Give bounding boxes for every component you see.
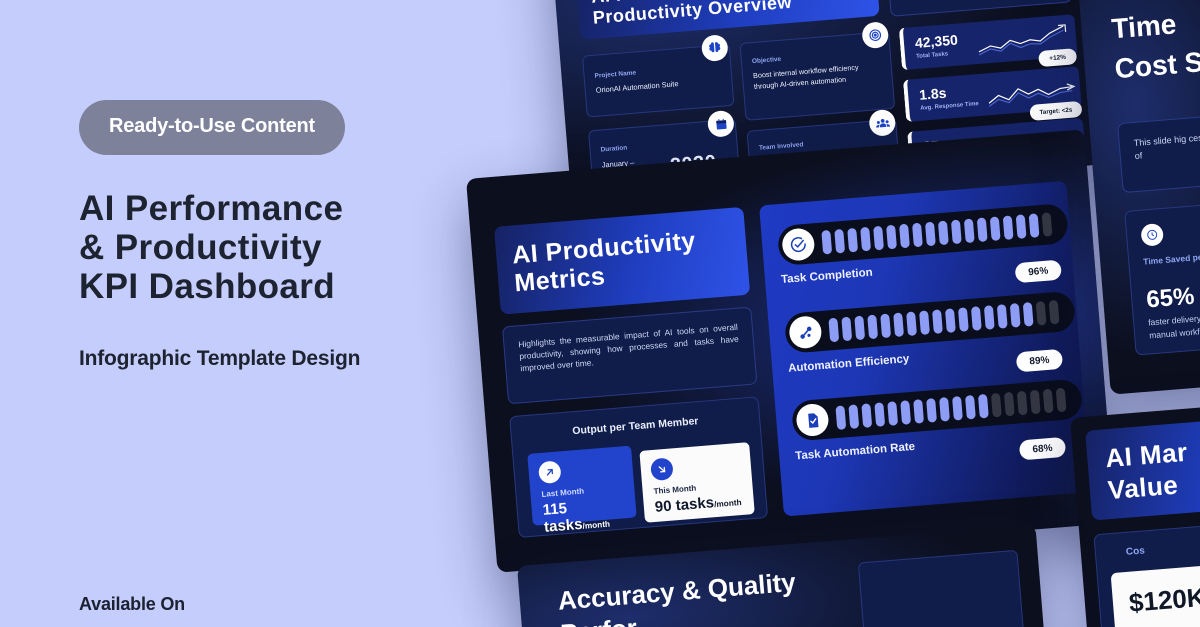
page-title-line-3: KPI Dashboard — [79, 267, 343, 306]
arrow-down-right-icon — [650, 457, 674, 481]
stat-total-tasks-value: 42,350 — [914, 32, 958, 51]
slide-time-cost-title-line-1: Time — [1110, 2, 1200, 49]
slide-time-cost-title-line-2: Cost S — [1113, 42, 1200, 89]
output-card-last-month-label: Last Month — [541, 487, 584, 499]
card-objective-label: Objective — [752, 56, 782, 65]
card-duration-label: Duration — [600, 144, 627, 153]
stat-response-time-caption: Avg. Response Time — [920, 101, 979, 112]
page-title-line-1: AI Performance — [79, 189, 343, 228]
card-cost-savings-value: $120K — [1128, 582, 1200, 619]
output-card-this-month-unit: /month — [714, 498, 742, 509]
slide-metrics-description: Highlights the measurable impact of AI t… — [502, 307, 757, 405]
slide-ai-value-header: AI Mar Value — [1085, 412, 1200, 520]
page-title-line-2: & Productivity — [79, 228, 343, 267]
page-subtitle: Infographic Template Design — [79, 347, 360, 371]
stat-total-tasks-pill: +12% — [1038, 48, 1077, 67]
slide-overview-title-line-2: Productivity Overview — [592, 0, 793, 29]
card-project-name-value: OrionAI Automation Suite — [595, 79, 678, 95]
slide-ai-value-title-line-2: Value — [1107, 468, 1192, 507]
output-card-last-month-value: 115 tasks/month — [542, 494, 637, 535]
card-cost-savings-label: Cos — [1126, 545, 1146, 557]
output-card-last-month[interactable]: Last Month 115 tasks/month — [527, 446, 636, 526]
card-time-saved-label: Time Saved per Project — [1143, 246, 1200, 269]
slide-overview-description: This slide provides a clear snapshot of … — [886, 0, 1073, 17]
stat-total-tasks-caption: Total Tasks — [916, 51, 949, 60]
card-objective-value: Boost internal workflow efficiency throu… — [753, 60, 874, 92]
available-on-label: Available On — [79, 594, 185, 615]
slide-metrics-header: AI Productivity Metrics — [494, 207, 750, 315]
clock-icon — [1140, 223, 1164, 247]
card-team-involved-label: Team Involved — [759, 141, 804, 152]
slide-ai-value[interactable]: AI Mar Value Cos $120K — [1070, 398, 1200, 627]
output-per-team-member-title: Output per Team Member — [511, 410, 759, 442]
card-project-name-label: Project Name — [594, 69, 636, 79]
slide-metrics[interactable]: AI Productivity Metrics Highlights the m… — [466, 129, 1116, 572]
arrow-up-right-icon — [538, 460, 562, 484]
output-card-this-month[interactable]: This Month 90 tasks/month — [639, 442, 754, 523]
promo-pane: Ready-to-Use Content AI Performance & Pr… — [79, 0, 509, 627]
slide-time-cost-description: This slide hig cessing time a a clear vi… — [1117, 107, 1200, 193]
output-card-this-month-label: This Month — [653, 484, 696, 496]
page-title: AI Performance & Productivity KPI Dashbo… — [79, 189, 343, 306]
slide-accuracy-side-card[interactable] — [858, 550, 1028, 627]
output-card-this-month-value: 90 tasks/month — [654, 492, 742, 516]
output-card-last-month-unit: /month — [582, 520, 610, 531]
progress-pill-automation-efficiency: 89% — [1016, 349, 1063, 373]
card-time-saved[interactable]: Time Saved per Project 65% faster delive… — [1124, 195, 1200, 356]
progress-pill-task-automation-rate: 68% — [1019, 437, 1066, 461]
ready-to-use-badge: Ready-to-Use Content — [79, 100, 345, 155]
output-per-team-member-box: Output per Team Member Last Month 115 ta… — [509, 396, 768, 538]
slide-accuracy-title: Accuracy & Quality Perfor — [557, 566, 800, 627]
card-time-saved-value: 65% — [1145, 283, 1195, 315]
progress-pill-task-completion: 96% — [1015, 260, 1062, 284]
slide-overview-header: AI Performance & Productivity Overview — [576, 0, 880, 40]
slide-time-cost-title: Time Cost S — [1110, 2, 1200, 89]
stat-response-time-value: 1.8s — [919, 85, 947, 103]
